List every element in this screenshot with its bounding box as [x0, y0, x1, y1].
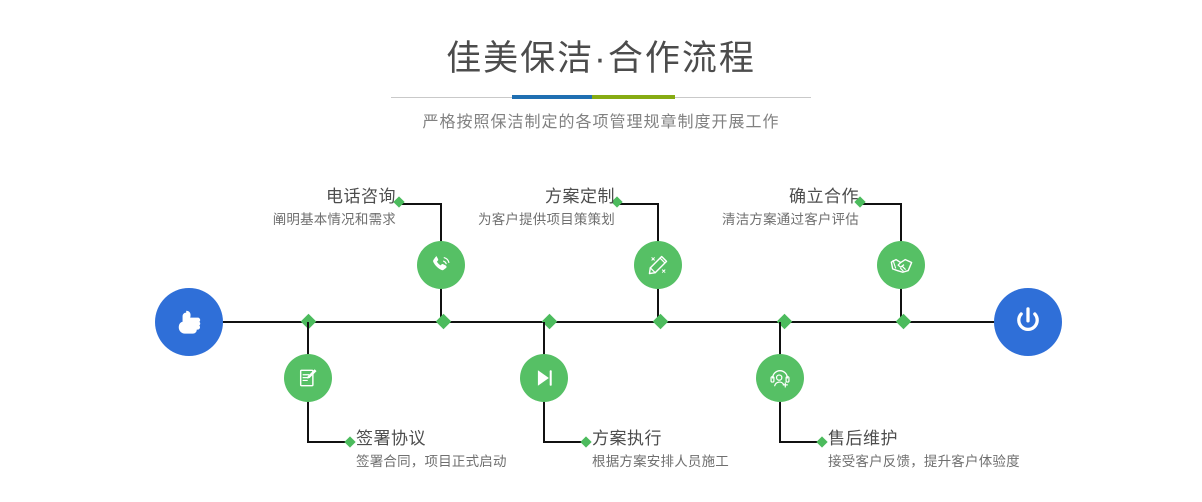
timeline-end-endpoint [994, 288, 1062, 356]
step-label-establish-cooperation: 确立合作 清洁方案通过客户评估 [722, 186, 859, 230]
step-label-sign-agreement: 签署协议 签署合同，项目正式启动 [356, 428, 507, 472]
step-icon-sign-agreement[interactable] [284, 354, 332, 402]
connector-horizontal-step6 [779, 441, 821, 443]
step-title: 方案定制 [478, 186, 615, 208]
customer-service-icon [767, 365, 793, 391]
step-icon-establish-cooperation[interactable] [877, 241, 925, 289]
document-sign-icon [295, 365, 321, 391]
power-button-icon [1009, 303, 1047, 341]
connector-horizontal-step3 [617, 203, 659, 205]
timeline-node-diamond [653, 314, 669, 330]
step-icon-phone-consultation[interactable] [417, 241, 465, 289]
step-label-plan-customization: 方案定制 为客户提供项目策策划 [478, 186, 615, 230]
step-desc: 阐明基本情况和需求 [273, 210, 396, 230]
step-title: 售后维护 [828, 428, 1020, 450]
timeline-node-diamond [896, 314, 912, 330]
step-desc: 为客户提供项目策策划 [478, 210, 615, 230]
step-desc: 根据方案安排人员施工 [592, 452, 729, 472]
label-diamond-step2 [344, 436, 355, 447]
timeline-node-diamond [436, 314, 452, 330]
step-title: 电话咨询 [273, 186, 396, 208]
connector-horizontal-step4 [543, 441, 585, 443]
step-icon-plan-customization[interactable] [634, 241, 682, 289]
step-label-plan-execution: 方案执行 根据方案安排人员施工 [592, 428, 729, 472]
step-title: 签署协议 [356, 428, 507, 450]
phone-call-icon [428, 252, 454, 278]
step-label-after-sales: 售后维护 接受客户反馈，提升客户体验度 [828, 428, 1020, 472]
step-label-phone-consultation: 电话咨询 阐明基本情况和需求 [273, 186, 396, 230]
handshake-icon [888, 252, 915, 279]
play-execute-icon [531, 365, 557, 391]
step-icon-plan-execution[interactable] [520, 354, 568, 402]
pencil-design-icon [645, 252, 671, 278]
step-title: 方案执行 [592, 428, 729, 450]
pointing-hand-icon [169, 302, 209, 342]
step-icon-after-sales[interactable] [756, 354, 804, 402]
title-divider [391, 93, 811, 103]
header: 佳美保洁·合作流程 严格按照保洁制定的各项管理规章制度开展工作 [0, 0, 1202, 135]
step-desc: 签署合同，项目正式启动 [356, 452, 507, 472]
connector-horizontal-step5 [860, 203, 902, 205]
step-desc: 接受客户反馈，提升客户体验度 [828, 452, 1020, 472]
page-subtitle: 严格按照保洁制定的各项管理规章制度开展工作 [0, 103, 1202, 135]
connector-horizontal-step1 [399, 203, 442, 205]
process-flow-infographic: 佳美保洁·合作流程 严格按照保洁制定的各项管理规章制度开展工作 [0, 0, 1202, 502]
divider-segment-blue [512, 95, 592, 99]
timeline-start-endpoint [155, 288, 223, 356]
step-desc: 清洁方案通过客户评估 [722, 210, 859, 230]
label-diamond-step4 [580, 436, 591, 447]
step-title: 确立合作 [722, 186, 859, 208]
page-title: 佳美保洁·合作流程 [0, 0, 1202, 81]
divider-segment-green [592, 95, 675, 99]
label-diamond-step6 [816, 436, 827, 447]
